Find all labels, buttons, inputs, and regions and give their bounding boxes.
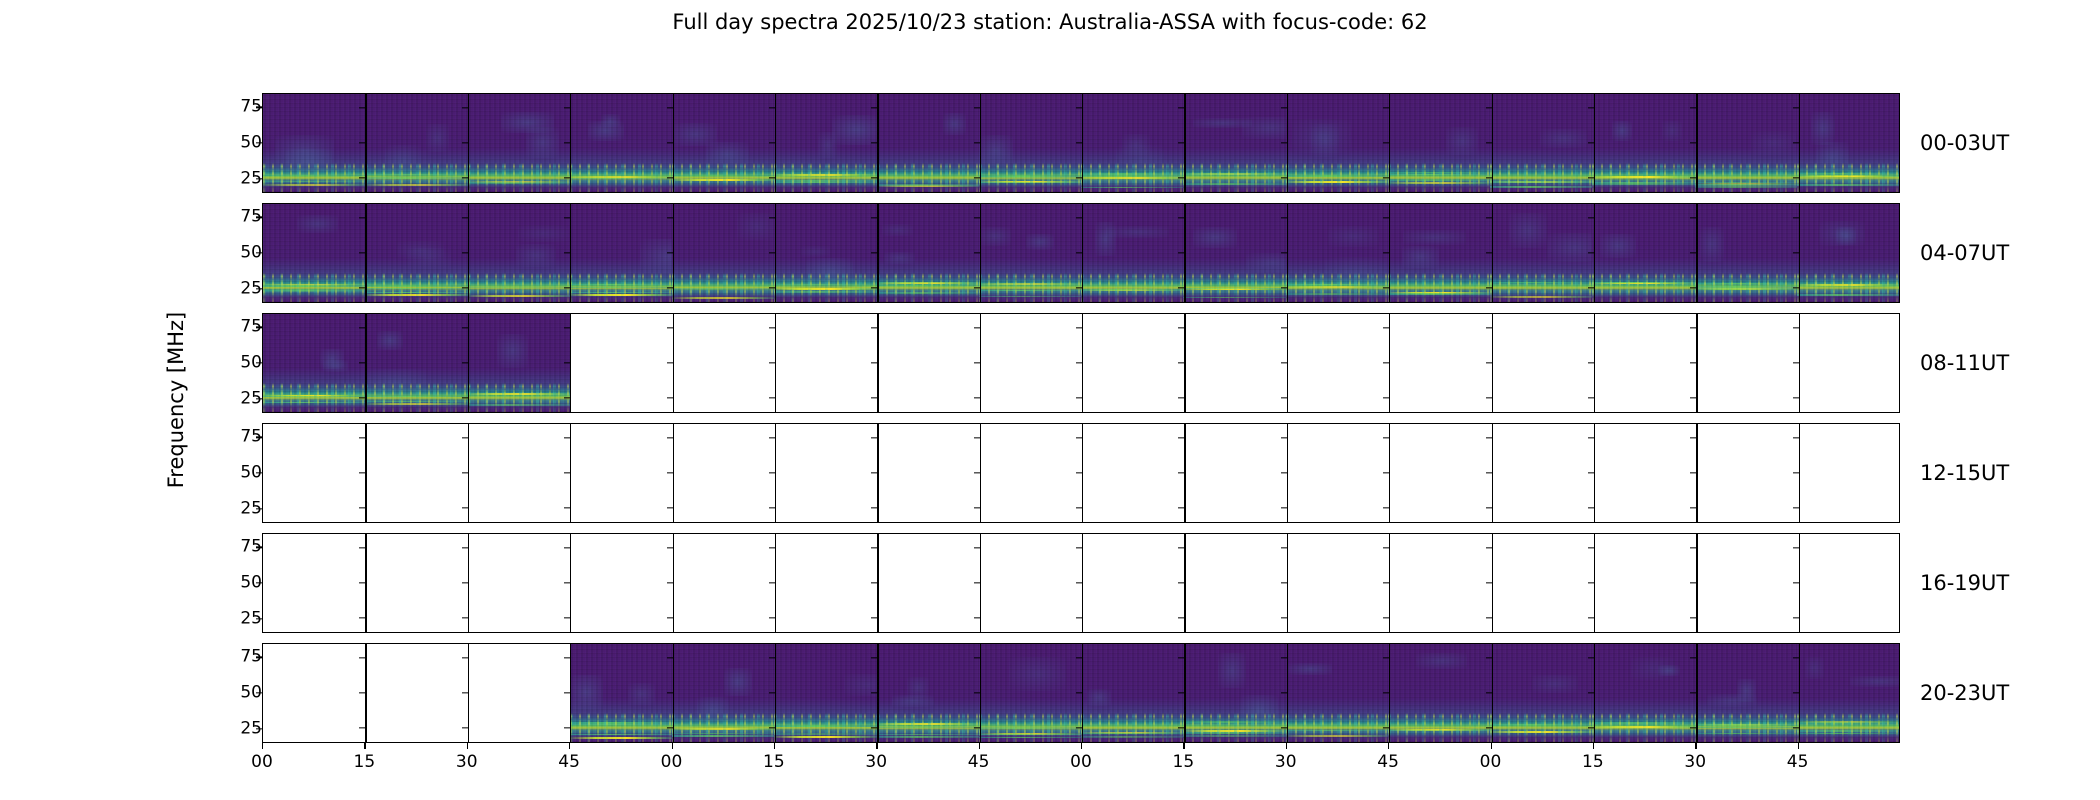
y-tick-mark-inner [462,507,468,508]
vertical-noise [468,204,570,302]
y-tick-mark-inner [462,472,468,473]
vertical-noise [468,314,570,412]
y-tick-mark-inner [564,252,570,253]
cell-divider [1696,424,1697,522]
vertical-noise [1183,644,1285,742]
cell-divider [468,94,469,192]
y-tick-mark-inner [1076,507,1082,508]
y-tick-mark-inner [564,617,570,618]
y-tick-mark [256,217,262,218]
y-tick-mark-inner [359,217,365,218]
spectrogram-cell [570,94,672,192]
spectrogram-cell-empty [877,424,979,522]
y-tick-mark-inner [769,287,775,288]
cell-divider [1696,314,1697,412]
y-tick-mark-inner [1793,287,1799,288]
y-tick-mark-inner [359,727,365,728]
y-tick-mark-inner [1793,617,1799,618]
cell-divider [1287,644,1288,742]
cell-divider [673,424,674,522]
y-tick-mark-inner [564,107,570,108]
spectrogram-cell [1183,94,1285,192]
y-tick-mark-inner [1793,507,1799,508]
y-tick-mark-inner [1793,547,1799,548]
y-tick-mark-inner [667,727,673,728]
y-tick-mark-inner [1178,507,1184,508]
y-tick-mark-inner [1076,362,1082,363]
vertical-noise [672,204,774,302]
vertical-noise [570,94,672,192]
y-tick-mark-inner [974,327,980,328]
x-tick-mark [364,743,365,749]
vertical-noise [263,314,365,412]
spectrogram-cell [1081,94,1183,192]
spectrogram-cell [468,204,570,302]
x-tick-mark [876,743,877,749]
spectrogram-row [262,423,1900,523]
cell-divider [775,534,776,632]
spectrogram-cell-empty [672,424,774,522]
y-tick-mark-inner [871,142,877,143]
y-tick-mark-inner [974,692,980,693]
y-tick-mark-inner [667,142,673,143]
y-tick-mark [256,142,262,143]
cell-divider [775,424,776,522]
y-tick-mark-inner [667,327,673,328]
x-tick-mark [1081,743,1082,749]
y-tick-mark-inner [769,727,775,728]
y-tick-mark-inner [1588,507,1594,508]
y-tick-mark-inner [974,397,980,398]
y-tick-mark-inner [769,657,775,658]
cell-divider [365,204,366,302]
y-tick-mark-inner [1588,692,1594,693]
y-tick-mark-inner [667,217,673,218]
cell-divider [980,534,981,632]
cell-divider [365,314,366,412]
y-tick-mark-inner [871,287,877,288]
y-tick-mark-inner [1486,142,1492,143]
vertical-noise [1388,204,1490,302]
y-tick-mark-inner [1588,217,1594,218]
y-tick-label: 75 [0,649,271,666]
y-tick-mark-inner [1486,617,1492,618]
y-tick-mark-inner [974,617,980,618]
y-tick-mark-inner [1690,252,1696,253]
vertical-noise [1695,204,1797,302]
y-tick-mark-inner [359,692,365,693]
cell-divider [1287,94,1288,192]
vertical-noise [365,314,467,412]
y-tick-mark-inner [667,547,673,548]
vertical-noise [1081,94,1183,192]
y-tick-mark-inner [359,472,365,473]
y-tick-mark-inner [1383,142,1389,143]
y-tick-mark-inner [1383,287,1389,288]
x-tick-mark [774,743,775,749]
y-tick-mark-inner [667,472,673,473]
y-tick-mark-inner [871,657,877,658]
y-tick-label: 25 [0,720,271,737]
y-tick-mark-inner [1690,362,1696,363]
y-tick-mark-inner [1281,582,1287,583]
y-tick-mark-inner [1178,287,1184,288]
vertical-noise [1490,644,1592,742]
y-tick-mark [256,618,262,619]
spectrogram-cell [1797,204,1899,302]
y-tick-mark-inner [359,362,365,363]
y-tick-mark-inner [1486,582,1492,583]
y-tick-mark-inner [1281,107,1287,108]
cell-divider [365,424,366,522]
row-time-label: 16-19UT [1920,571,2009,595]
y-tick-mark-inner [871,472,877,473]
spectrogram-row [262,313,1900,413]
spectrogram-cell [1286,204,1388,302]
spectrogram-cell [365,314,467,412]
y-tick-mark-inner [769,252,775,253]
cell-divider [980,204,981,302]
vertical-noise [1797,644,1899,742]
spectrogram-cell [263,94,365,192]
spectrogram-cell [672,644,774,742]
spectrogram-cell-empty [263,424,365,522]
y-tick-mark-inner [564,142,570,143]
spectrogram-cell-empty [979,534,1081,632]
y-tick-mark [256,472,262,473]
y-tick-mark-inner [871,727,877,728]
y-tick-mark-inner [871,692,877,693]
y-tick-mark-inner [1486,507,1492,508]
y-tick-mark-inner [871,327,877,328]
y-tick-mark-inner [1793,252,1799,253]
y-tick-label: 75 [0,429,271,446]
y-tick-label: 50 [0,245,271,262]
vertical-noise [1183,94,1285,192]
y-tick-mark-inner [1588,107,1594,108]
spectrogram-cell-empty [468,534,570,632]
y-tick-mark [256,327,262,328]
y-tick-mark-inner [1486,727,1492,728]
row-time-label: 00-03UT [1920,131,2009,155]
spectrogram-cell-empty [774,314,876,412]
y-tick-mark-inner [1178,657,1184,658]
y-tick-mark-inner [1588,657,1594,658]
x-tick-label: 00 [661,752,683,772]
x-tick-mark [1286,743,1287,749]
vertical-noise [774,94,876,192]
y-tick-mark-inner [564,507,570,508]
y-tick-mark-inner [462,327,468,328]
y-tick-mark-inner [1690,397,1696,398]
y-tick-mark-inner [1690,107,1696,108]
y-tick-mark-inner [462,107,468,108]
cell-divider [1389,314,1390,412]
y-tick-mark-inner [1486,547,1492,548]
y-tick-mark-inner [1178,692,1184,693]
y-tick-mark-inner [1178,217,1184,218]
y-tick-mark-inner [769,217,775,218]
y-tick-mark-inner [462,617,468,618]
x-tick-label: 30 [865,752,887,772]
spectrogram-cell [1388,94,1490,192]
vertical-noise [263,204,365,302]
y-tick-mark-inner [1690,547,1696,548]
spectrogram-cell-empty [1081,424,1183,522]
y-tick-mark-inner [1690,582,1696,583]
y-tick-mark-inner [359,507,365,508]
y-tick-mark-inner [871,437,877,438]
vertical-noise [570,204,672,302]
y-tick-mark [256,728,262,729]
y-tick-mark-inner [1486,107,1492,108]
x-tick-mark [979,743,980,749]
y-tick-mark-inner [462,692,468,693]
y-tick-mark-inner [1486,692,1492,693]
y-tick-mark-inner [1383,327,1389,328]
y-tick-mark-inner [974,142,980,143]
spectrogram-cell [877,644,979,742]
y-tick-mark-inner [1690,287,1696,288]
x-tick-mark [672,743,673,749]
y-tick-mark-inner [564,657,570,658]
cell-divider [1082,534,1083,632]
x-tick-mark [1183,743,1184,749]
cell-divider [1696,534,1697,632]
spectrogram-cell-empty [1797,424,1899,522]
vertical-noise [877,644,979,742]
y-tick-mark-inner [1281,472,1287,473]
y-tick-mark-inner [667,177,673,178]
cell-divider [673,534,674,632]
y-tick-mark [256,692,262,693]
y-tick-mark-inner [1281,217,1287,218]
y-tick-mark-inner [871,252,877,253]
vertical-noise [570,644,672,742]
spectrogram-cell-empty [979,314,1081,412]
spectrogram-cell [570,644,672,742]
y-tick-mark-inner [871,617,877,618]
y-tick-mark-inner [1281,142,1287,143]
y-tick-mark-inner [667,507,673,508]
x-axis: 00153045001530450015304500153045 [262,743,1900,783]
cell-divider [1389,424,1390,522]
y-tick-mark-inner [1588,177,1594,178]
y-tick-mark-inner [1076,657,1082,658]
spectrogram-cell-empty [263,644,365,742]
y-tick-mark-inner [1383,547,1389,548]
spectrogram-cell-empty [1081,314,1183,412]
vertical-noise [1081,204,1183,302]
spectrogram-cell [1797,644,1899,742]
y-tick-mark-inner [564,177,570,178]
y-tick-mark [256,437,262,438]
y-tick-mark-inner [769,437,775,438]
y-tick-mark-inner [769,507,775,508]
x-tick-label: 45 [1787,752,1809,772]
row-time-label: 04-07UT [1920,241,2009,265]
y-tick-mark-inner [1690,617,1696,618]
cell-divider [1287,534,1288,632]
spectrogram-cell [468,94,570,192]
spectrogram-cell-empty [774,424,876,522]
cell-divider [775,644,776,742]
spectrogram-cell [1797,94,1899,192]
y-tick-mark-inner [1588,142,1594,143]
spectrogram-cell-empty [774,534,876,632]
y-tick-mark-inner [1178,547,1184,548]
y-tick-mark-inner [462,362,468,363]
vertical-noise [1286,204,1388,302]
x-tick-label: 30 [456,752,478,772]
spectrogram-cell-empty [1286,534,1388,632]
y-tick-mark-inner [1690,437,1696,438]
y-tick-mark-inner [1588,252,1594,253]
y-tick-mark-inner [667,657,673,658]
spectrogram-cell [877,94,979,192]
cell-divider [1594,204,1595,302]
spectrogram-cell-empty [979,424,1081,522]
y-tick-mark-inner [769,327,775,328]
y-tick-mark-inner [1486,657,1492,658]
y-tick-mark-inner [667,437,673,438]
vertical-noise [774,644,876,742]
y-tick-mark-inner [1178,582,1184,583]
spectrogram-cell-empty [365,644,467,742]
cell-divider [1184,424,1185,522]
cell-divider [468,644,469,742]
y-tick-mark-inner [1690,142,1696,143]
cell-divider [570,644,571,742]
y-tick-mark [256,547,262,548]
spectrogram-cell [1388,644,1490,742]
y-tick-mark-inner [871,397,877,398]
y-tick-mark-inner [871,217,877,218]
y-tick-mark-inner [359,547,365,548]
y-tick-mark-inner [1076,547,1082,548]
y-tick-mark-inner [462,582,468,583]
spectrogram-cell [468,314,570,412]
x-tick-label: 30 [1275,752,1297,772]
y-tick-mark-inner [1486,362,1492,363]
cell-divider [1389,204,1390,302]
y-tick-mark-inner [1178,472,1184,473]
cell-divider [1594,424,1595,522]
spectrogram-cell [979,644,1081,742]
y-tick-mark-inner [1281,252,1287,253]
cell-divider [1287,204,1288,302]
x-tick-label: 15 [763,752,785,772]
cell-divider [468,314,469,412]
spectrogram-cell-empty [1183,314,1285,412]
y-tick-mark-inner [1793,692,1799,693]
x-tick-label: 00 [251,752,273,772]
y-tick-mark-inner [667,582,673,583]
y-tick-mark-inner [1486,397,1492,398]
y-tick-mark-inner [769,397,775,398]
y-tick-mark-inner [1281,507,1287,508]
vertical-noise [1183,204,1285,302]
y-tick-label: 25 [0,170,271,187]
y-tick-label: 25 [0,610,271,627]
vertical-noise [1592,94,1694,192]
y-tick-mark-inner [564,437,570,438]
y-tick-mark-inner [564,692,570,693]
cell-divider [1082,314,1083,412]
spectrogram-cell-empty [1797,314,1899,412]
cell-divider [877,94,878,192]
vertical-noise [1388,644,1490,742]
cell-divider [1492,204,1493,302]
y-tick-mark-inner [564,327,570,328]
y-tick-label: 75 [0,209,271,226]
vertical-noise [1592,644,1694,742]
cell-divider [877,204,878,302]
spectrogram-cell-empty [1490,424,1592,522]
cell-divider [1184,204,1185,302]
y-tick-mark-inner [769,692,775,693]
spectrogram-cell-empty [1592,534,1694,632]
y-tick-mark-inner [1486,287,1492,288]
row-time-label: 08-11UT [1920,351,2009,375]
cell-divider [1696,94,1697,192]
y-tick-mark-inner [769,617,775,618]
y-tick-mark-inner [871,507,877,508]
y-tick-mark-inner [974,362,980,363]
spectrogram-cell [1592,94,1694,192]
y-tick-mark-inner [1793,437,1799,438]
cell-divider [877,424,878,522]
cell-divider [775,94,776,192]
spectrogram-cell [979,94,1081,192]
y-tick-mark-inner [359,617,365,618]
y-tick-mark-inner [974,582,980,583]
y-tick-mark-inner [1178,397,1184,398]
x-tick-label: 15 [1582,752,1604,772]
y-tick-mark-inner [462,217,468,218]
spectrogram-cell-empty [1388,314,1490,412]
y-tick-mark-inner [462,437,468,438]
cell-divider [1492,644,1493,742]
x-tick-label: 15 [354,752,376,772]
y-tick-label: 50 [0,135,271,152]
cell-divider [468,204,469,302]
y-tick-mark-inner [1076,692,1082,693]
y-tick-mark-inner [871,107,877,108]
cell-divider [365,534,366,632]
cell-divider [570,424,571,522]
y-tick-mark-inner [564,397,570,398]
y-tick-mark-inner [1178,727,1184,728]
y-tick-mark-inner [1281,727,1287,728]
spectrogram-cell-empty [570,314,672,412]
cell-divider [877,314,878,412]
cell-divider [1799,644,1800,742]
vertical-noise [1695,644,1797,742]
spectrogram-cell-empty [365,534,467,632]
vertical-noise [672,94,774,192]
y-tick-mark-inner [462,727,468,728]
spectrogram-cell-empty [877,534,979,632]
y-tick-mark-inner [359,327,365,328]
spectrogram-cell [1592,644,1694,742]
cell-divider [1492,534,1493,632]
spectrogram-cell-empty [1592,424,1694,522]
cell-divider [1389,94,1390,192]
y-tick-mark-inner [1281,657,1287,658]
cell-divider [1389,534,1390,632]
spectrogram-cell-empty [672,534,774,632]
